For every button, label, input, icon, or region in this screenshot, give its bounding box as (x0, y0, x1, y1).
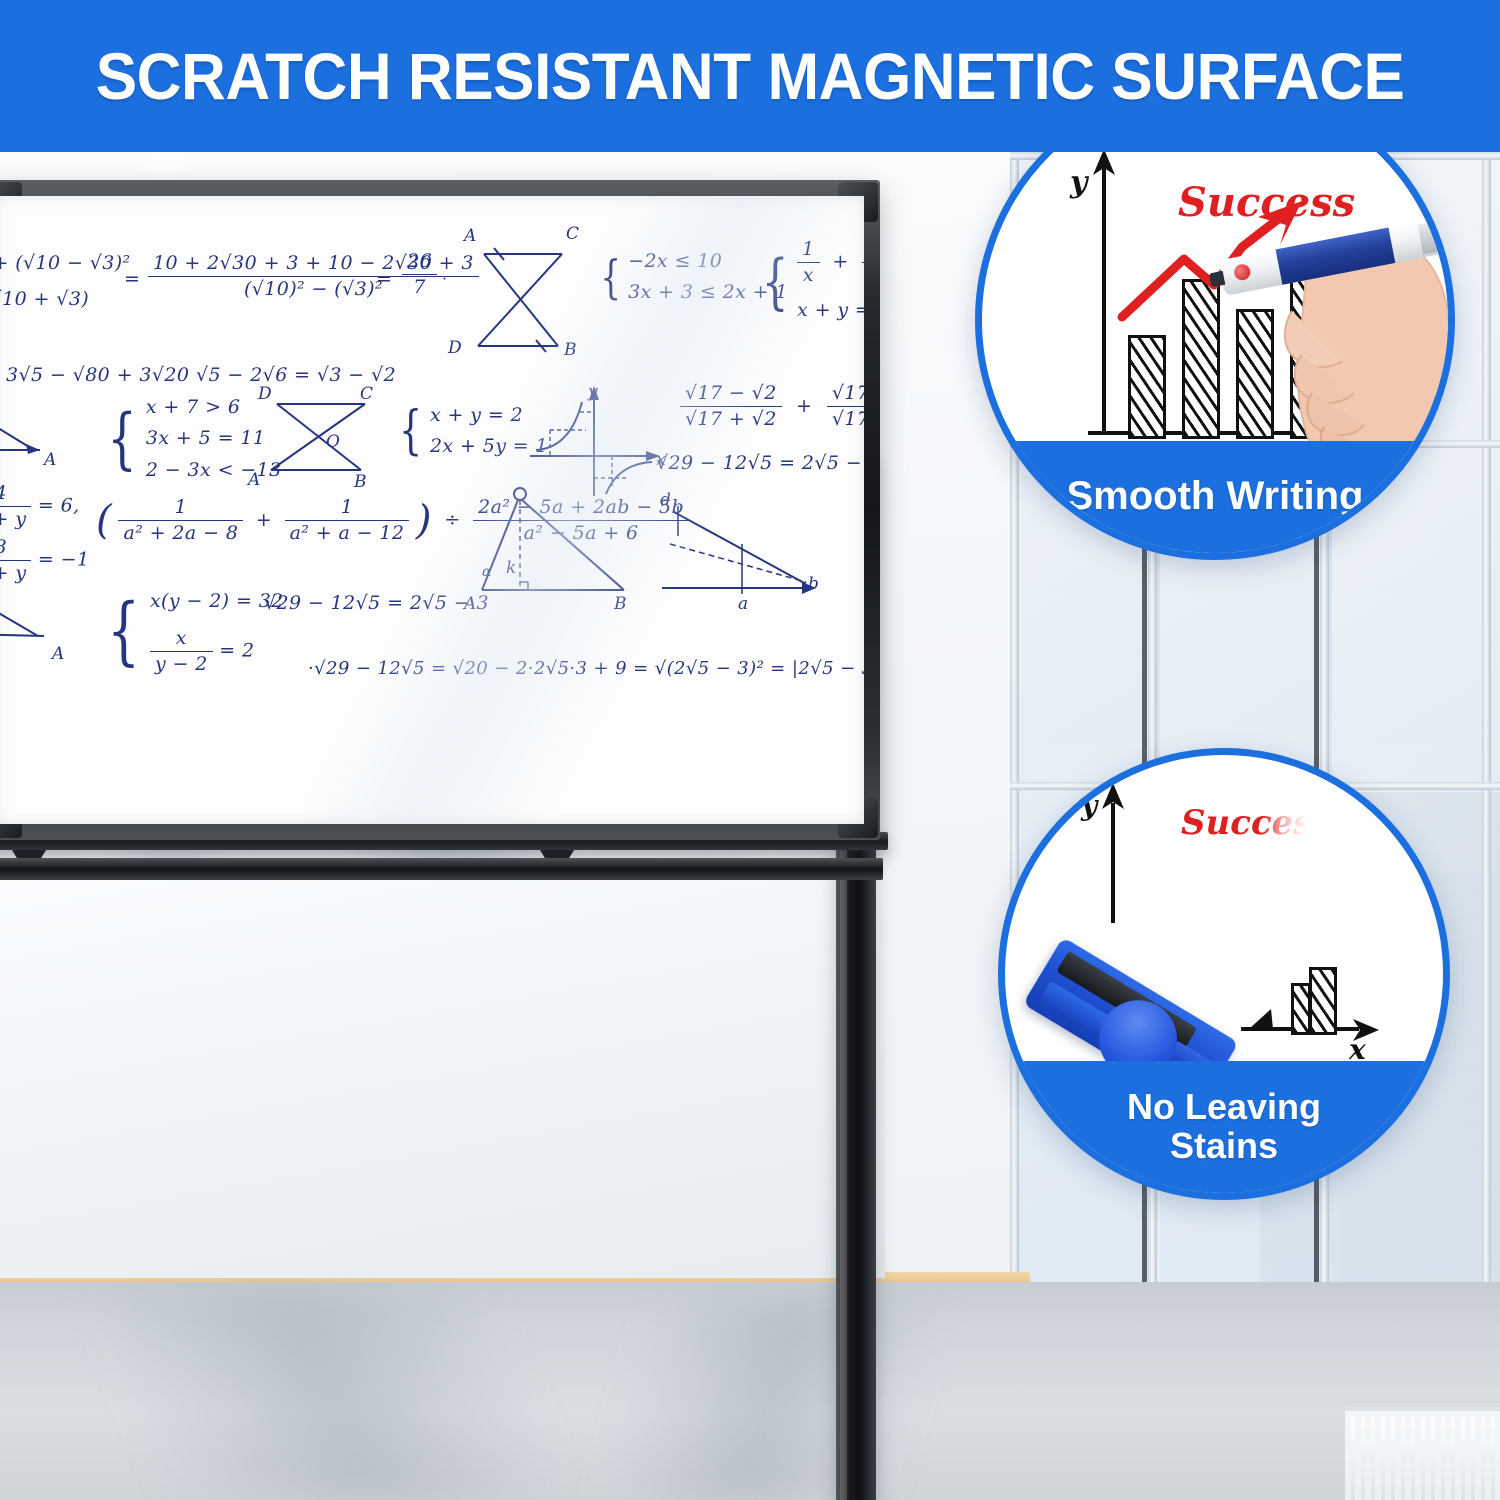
callout-label-line2: Stains (1127, 1127, 1321, 1166)
whiteboard[interactable]: ² + (√10 − √3)² )(√10 + √3) = 10 + 2√30 … (0, 180, 880, 840)
callout-label-line1: No Leaving (1127, 1088, 1321, 1127)
header-banner: SCRATCH RESISTANT MAGNETIC SURFACE (0, 0, 1500, 152)
success-text-partial: Succes (1181, 803, 1312, 843)
callout-label: Smooth Writing (1067, 475, 1364, 518)
chart-bar-remnant (1309, 967, 1337, 1035)
callout-no-leaving-stains: y Succes x (998, 748, 1450, 1200)
y-axis (1111, 803, 1115, 923)
floor-shadow (591, 1302, 948, 1500)
marker-tray-lower (0, 858, 883, 880)
chart-bar (1128, 335, 1166, 439)
radiator (1345, 1407, 1500, 1500)
floor-shadow (78, 1292, 583, 1500)
lower-white-panel (0, 878, 885, 1278)
callout-label-band: Smooth Writing (982, 441, 1448, 553)
whiteboard-surface[interactable]: ² + (√10 − √3)² )(√10 + √3) = 10 + 2√30 … (0, 196, 864, 824)
board-glare (0, 196, 864, 824)
y-axis-arrowhead (1099, 783, 1129, 813)
y-axis-arrowhead (1090, 149, 1120, 179)
y-axis-label: y (1070, 165, 1087, 200)
product-marketing-image: ² + (√10 − √3)² )(√10 + √3) = 10 + 2√30 … (0, 0, 1500, 1500)
chart-bar-smudge (1245, 1005, 1285, 1033)
window-mullion (1482, 152, 1491, 1282)
floor (0, 1282, 1500, 1500)
callout-label-band: No Leaving Stains (1005, 1061, 1443, 1193)
y-axis-label: y (1081, 789, 1097, 822)
chart-bar-remnant (1291, 983, 1311, 1035)
banner-title: SCRATCH RESISTANT MAGNETIC SURFACE (96, 38, 1405, 114)
callout-smooth-writing: y x Success (975, 80, 1455, 560)
